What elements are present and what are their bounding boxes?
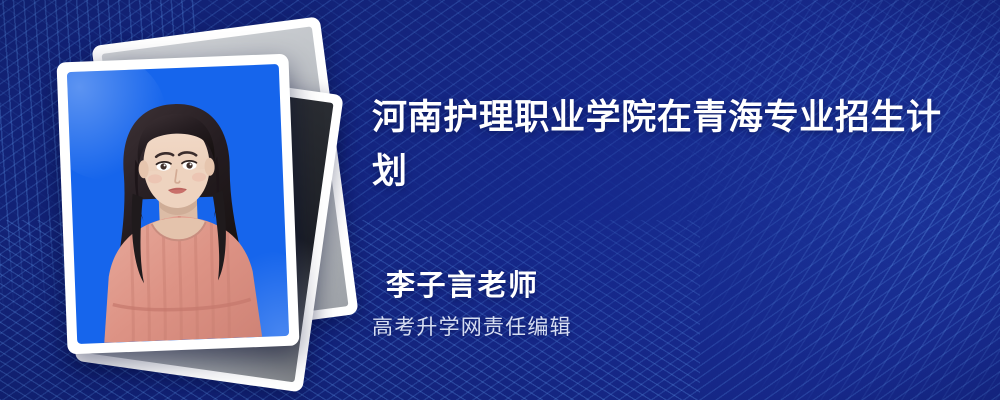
photo-card-stack <box>62 30 362 370</box>
banner-root: 河南护理职业学院在青海专业招生计划 李子言老师 高考升学网责任编辑 <box>0 0 1000 400</box>
page-title: 河南护理职业学院在青海专业招生计划 <box>372 91 957 197</box>
text-column: 河南护理职业学院在青海专业招生计划 李子言老师 高考升学网责任编辑 <box>372 0 972 400</box>
portrait-figure-icon <box>69 84 289 344</box>
byline: 李子言老师 高考升学网责任编辑 <box>386 268 946 341</box>
author-name: 李子言老师 <box>386 268 946 305</box>
author-role: 高考升学网责任编辑 <box>372 314 946 341</box>
front-card-photo <box>56 54 299 355</box>
portrait-photo <box>67 64 289 344</box>
